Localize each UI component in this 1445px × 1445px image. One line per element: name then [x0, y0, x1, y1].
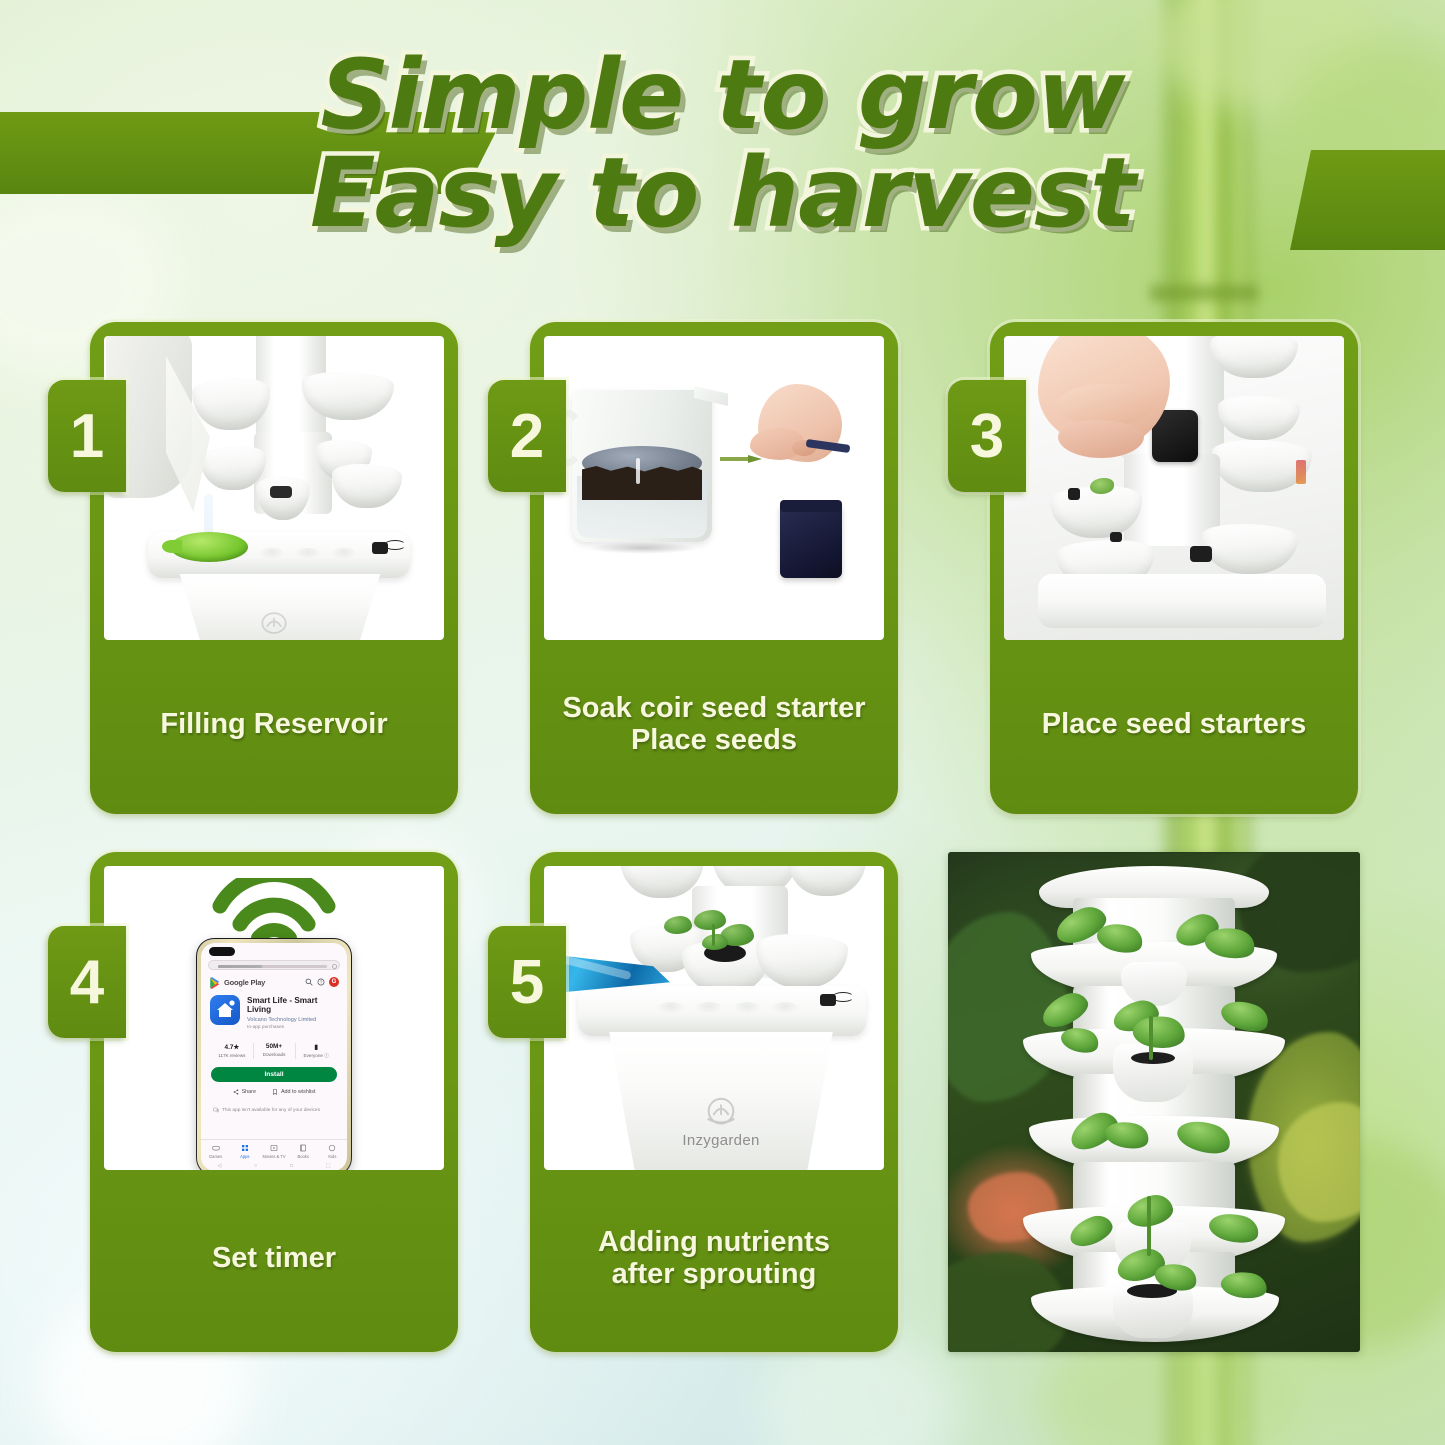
app-actions: Share Add to wishlist	[213, 1089, 335, 1095]
step-card-1[interactable]: Filling Reservoir 1	[48, 322, 458, 814]
smartphone: Google Play ? G	[196, 938, 352, 1170]
stat-label: Downloads	[253, 1052, 295, 1057]
device-note-text: This app isn't available for any of your…	[222, 1108, 320, 1113]
nav-label: Movies & TV	[262, 1154, 285, 1159]
app-stats: 4.7★ 117K reviews 50M+ Downloads ▮	[211, 1043, 337, 1059]
step-badge-3: 3	[948, 380, 1026, 492]
phone-screen[interactable]: Google Play ? G	[201, 943, 347, 1170]
step-card-5-frame: Inzygarden Adding nutrients after sprout…	[530, 852, 898, 1352]
step-card-2-caption-text: Soak coir seed starter Place seeds	[562, 692, 865, 757]
wishlist-button[interactable]: Add to wishlist	[272, 1089, 315, 1095]
app-purchases-note: In-app purchases	[247, 1025, 338, 1030]
tray-base	[1038, 574, 1326, 628]
app-icon	[210, 995, 240, 1025]
reload-icon	[332, 964, 337, 969]
phone-camera-notch	[209, 947, 235, 956]
kids-icon	[328, 1144, 336, 1152]
coir-seed-cube	[270, 486, 292, 498]
wifi-icon	[210, 878, 338, 942]
step-card-4-photo: Google Play ? G	[104, 866, 444, 1170]
app-developer[interactable]: Volcano Technology Limited	[247, 1017, 338, 1023]
step-badge-4: 4	[48, 926, 126, 1038]
nav-label: Apps	[240, 1154, 249, 1159]
lid-dimple	[658, 1002, 684, 1014]
app-title: Smart Life - Smart Living	[247, 996, 338, 1015]
google-play-header: Google Play ? G	[209, 975, 339, 989]
wishlist-label: Add to wishlist	[281, 1089, 315, 1095]
stat-rating: 4.7★ 117K reviews	[211, 1043, 253, 1059]
inzygarden-logo	[694, 1096, 748, 1132]
screenshot-button[interactable]: ⬚	[326, 1163, 331, 1169]
stat-rating-content: ▮ Everyone ⓘ	[295, 1043, 337, 1059]
devices-icon	[213, 1107, 219, 1113]
caption-line-2: after sprouting	[612, 1258, 817, 1290]
nav-books[interactable]: Books	[289, 1144, 318, 1159]
bookmark-icon	[272, 1089, 278, 1095]
step-card-4[interactable]: Google Play ? G	[48, 852, 458, 1352]
step-card-5-caption-text: Adding nutrients after sprouting	[598, 1226, 830, 1291]
funnel-handle	[162, 540, 182, 553]
google-play-label: Google Play	[224, 978, 265, 987]
coir-pellets	[582, 466, 702, 500]
step-card-5-caption: Adding nutrients after sprouting	[530, 1170, 898, 1352]
help-icon[interactable]: ?	[317, 978, 325, 986]
stat-label: 117K reviews	[211, 1053, 253, 1058]
url-text	[218, 965, 327, 968]
nav-label: Kids	[328, 1154, 336, 1159]
lid-dimple	[260, 548, 284, 560]
lid-dimple	[734, 1002, 760, 1014]
planter-cup	[756, 934, 848, 988]
accent-banner-right	[1290, 150, 1445, 250]
play-bottom-nav: Games Apps	[201, 1139, 347, 1161]
planter-cup	[788, 866, 866, 896]
avatar[interactable]: G	[329, 977, 339, 987]
step-card-5[interactable]: Inzygarden Adding nutrients after sprout…	[488, 852, 898, 1352]
caption-line-1: Adding nutrients	[598, 1226, 830, 1258]
seed-packet	[780, 504, 842, 578]
power-cable	[384, 540, 406, 550]
product-photo	[948, 852, 1360, 1352]
step-card-1-photo	[104, 336, 444, 640]
pitcher-highlight	[636, 458, 640, 484]
step-badge-1: 1	[48, 380, 126, 492]
tower-garden	[1009, 866, 1299, 1336]
back-button[interactable]: ◁	[217, 1163, 221, 1169]
stat-value: 50M+	[253, 1043, 295, 1050]
seedling-leaf	[694, 910, 726, 930]
stat-downloads: 50M+ Downloads	[253, 1043, 295, 1059]
bamboo-node	[1150, 280, 1258, 306]
coir-seed-cube	[1068, 488, 1080, 500]
nav-movies[interactable]: Movies & TV	[259, 1144, 288, 1159]
step-card-1-frame: Filling Reservoir	[90, 322, 458, 814]
plant-stem	[1147, 1196, 1151, 1256]
power-cable	[832, 992, 854, 1002]
seedling-leaf	[702, 934, 728, 950]
share-label: Share	[242, 1089, 256, 1095]
caption-line-2: Place seeds	[631, 724, 797, 756]
movies-icon	[270, 1144, 278, 1152]
books-icon	[299, 1144, 307, 1152]
nav-games[interactable]: Games	[201, 1144, 230, 1159]
nav-label: Books	[298, 1154, 309, 1159]
soil	[1131, 1052, 1175, 1064]
step-card-4-caption: Set timer	[90, 1170, 458, 1352]
step-card-3-frame: Place seed starters	[990, 322, 1358, 814]
steps-grid: Filling Reservoir 1	[48, 322, 1408, 1352]
seedling-stem	[712, 924, 715, 946]
app-summary: Smart Life - Smart Living Volcano Techno…	[210, 995, 338, 1030]
step-card-2-photo	[544, 336, 884, 640]
system-nav-bar: ◁ ○ □ ⬚	[201, 1161, 347, 1170]
lid-dimple	[296, 548, 320, 560]
step-card-3-photo	[1004, 336, 1344, 640]
step-badge-2: 2	[488, 380, 566, 492]
coir-seed-cube	[1110, 532, 1122, 542]
step-card-1-caption: Filling Reservoir	[90, 640, 458, 814]
home-button[interactable]: ○	[254, 1163, 257, 1169]
app-meta: Smart Life - Smart Living Volcano Techno…	[247, 995, 338, 1030]
apps-icon	[241, 1144, 249, 1152]
coir-seed-cube	[1190, 546, 1212, 562]
share-button[interactable]: Share	[233, 1089, 256, 1095]
step-card-2-caption: Soak coir seed starter Place seeds	[530, 640, 898, 814]
recents-button[interactable]: □	[290, 1163, 293, 1169]
step-card-3[interactable]: Place seed starters 3	[948, 322, 1358, 814]
brand-wordmark: Inzygarden	[664, 1132, 778, 1149]
inzygarden-logo	[256, 612, 292, 636]
lid-dimple	[772, 1002, 798, 1014]
step-card-2[interactable]: Soak coir seed starter Place seeds 2	[488, 322, 898, 814]
device-availability-note: This app isn't available for any of your…	[213, 1107, 335, 1113]
step-card-2-frame: Soak coir seed starter Place seeds	[530, 322, 898, 814]
google-play-icon	[209, 977, 220, 988]
nav-kids[interactable]: Kids	[318, 1144, 347, 1159]
nav-label: Games	[209, 1154, 222, 1159]
accent-banner-left	[0, 112, 506, 194]
stat-label: Everyone ⓘ	[295, 1053, 337, 1059]
step-card-5-photo: Inzygarden	[544, 866, 884, 1170]
browser-url-bar[interactable]	[208, 960, 340, 970]
plant-stem	[1149, 1016, 1153, 1060]
lid-dimple	[696, 1002, 722, 1014]
search-icon[interactable]	[305, 978, 313, 986]
seedling-leaf	[664, 916, 692, 934]
install-button[interactable]: Install	[211, 1067, 337, 1082]
label-sticker	[1296, 460, 1306, 484]
stat-value: 4.7★	[211, 1043, 253, 1051]
nav-apps[interactable]: Apps	[230, 1144, 259, 1159]
step-card-4-frame: Google Play ? G	[90, 852, 458, 1352]
games-icon	[212, 1144, 220, 1152]
lid-dimple	[332, 548, 356, 560]
caption-line-1: Soak coir seed starter	[562, 692, 865, 724]
seed-packet-top	[780, 500, 842, 512]
svg-text:?: ?	[320, 980, 323, 985]
planter-cup	[332, 464, 402, 508]
step-card-3-caption: Place seed starters	[990, 640, 1358, 814]
pitcher-shadow	[588, 542, 698, 554]
share-icon	[233, 1089, 239, 1095]
stat-value: ▮	[295, 1043, 337, 1051]
step-badge-5: 5	[488, 926, 566, 1038]
